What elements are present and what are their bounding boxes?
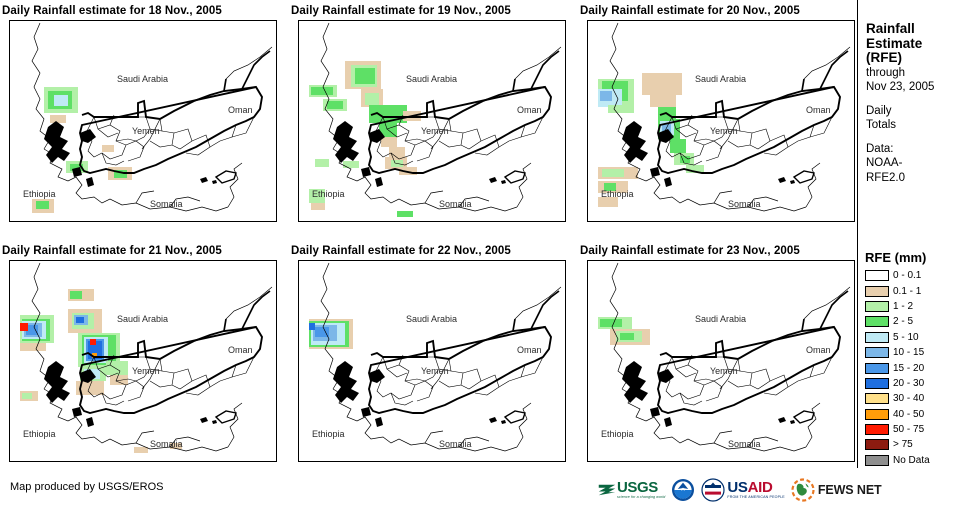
- legend-label-12: No Data: [893, 455, 930, 466]
- rfe-header: Rainfall Estimate (RFE) through Nov 23, …: [866, 22, 966, 185]
- map-credit: Map produced by USGS/EROS: [10, 481, 163, 493]
- legend-item: 1 - 2: [865, 299, 967, 314]
- legend-label-0: 0 - 0.1: [893, 270, 921, 281]
- label-somalia: Somalia: [439, 439, 472, 449]
- legend-swatch-12: [865, 455, 889, 466]
- rfe-data-source2: RFE2.0: [866, 171, 966, 186]
- legend-item: No Data: [865, 453, 967, 468]
- legend-label-3: 2 - 5: [893, 316, 913, 327]
- legend-swatch-1: [865, 286, 889, 297]
- panel-title: Daily Rainfall estimate for 20 Nov., 200…: [578, 3, 856, 20]
- map-frame: Saudi Arabia Oman Yemen Ethiopia Somalia: [9, 20, 277, 222]
- legend-item: 2 - 5: [865, 314, 967, 329]
- rainfall-cells: [598, 73, 704, 207]
- legend-swatch-11: [865, 439, 889, 450]
- label-ethiopia: Ethiopia: [601, 189, 634, 199]
- rfe-data-label: Data:: [866, 142, 966, 157]
- panel-title: Daily Rainfall estimate for 18 Nov., 200…: [0, 3, 278, 20]
- usaid-logo-tagline: FROM THE AMERICAN PEOPLE: [727, 496, 784, 500]
- label-yemen: Yemen: [421, 126, 449, 136]
- legend-label-10: 50 - 75: [893, 424, 924, 435]
- label-yemen: Yemen: [132, 126, 160, 136]
- rainfall-cells: [598, 317, 650, 345]
- usaid-seal-icon: [701, 478, 725, 502]
- label-oman: Oman: [806, 105, 831, 115]
- legend-label-4: 5 - 10: [893, 332, 919, 343]
- legend-swatch-4: [865, 332, 889, 343]
- label-ethiopia: Ethiopia: [601, 429, 634, 439]
- rfe-through-date: Nov 23, 2005: [866, 80, 966, 95]
- map-frame: Saudi Arabia Oman Yemen Ethiopia Somalia: [9, 260, 277, 462]
- rainfall-cells: [309, 319, 353, 349]
- label-ethiopia: Ethiopia: [23, 189, 56, 199]
- legend-item: 10 - 15: [865, 345, 967, 360]
- legend-label-6: 15 - 20: [893, 363, 924, 374]
- legend-swatch-8: [865, 393, 889, 404]
- legend-swatch-5: [865, 347, 889, 358]
- panel-title: Daily Rainfall estimate for 22 Nov., 200…: [289, 243, 567, 260]
- legend-label-11: > 75: [893, 439, 913, 450]
- rfe-totals-line2: Totals: [866, 118, 966, 133]
- label-somalia: Somalia: [150, 199, 183, 209]
- legend-label-1: 0.1 - 1: [893, 286, 921, 297]
- label-ethiopia: Ethiopia: [312, 189, 345, 199]
- fewsnet-logo: FEWS NET: [791, 475, 882, 505]
- label-saudi-arabia: Saudi Arabia: [117, 74, 168, 84]
- legend-label-2: 1 - 2: [893, 301, 913, 312]
- legend-swatch-0: [865, 270, 889, 281]
- usaid-logo: USAID FROM THE AMERICAN PEOPLE: [701, 475, 784, 505]
- label-oman: Oman: [517, 345, 542, 355]
- legend-item: 0 - 0.1: [865, 268, 967, 283]
- label-ethiopia: Ethiopia: [23, 429, 56, 439]
- label-saudi-arabia: Saudi Arabia: [406, 314, 457, 324]
- legend-item: 40 - 50: [865, 407, 967, 422]
- panel-title: Daily Rainfall estimate for 21 Nov., 200…: [0, 243, 278, 260]
- panel-18-nov: Daily Rainfall estimate for 18 Nov., 200…: [0, 3, 278, 222]
- label-yemen: Yemen: [132, 366, 160, 376]
- noaa-seal-icon: [671, 478, 695, 502]
- panel-23-nov: Daily Rainfall estimate for 23 Nov., 200…: [578, 243, 856, 462]
- label-yemen: Yemen: [710, 126, 738, 136]
- legend-item: 50 - 75: [865, 422, 967, 437]
- rfe-legend: RFE (mm) 0 - 0.1 0.1 - 1 1 - 2 2 - 5 5 -…: [865, 250, 967, 468]
- panel-title: Daily Rainfall estimate for 23 Nov., 200…: [578, 243, 856, 260]
- legend-item: 20 - 30: [865, 376, 967, 391]
- legend-item: 5 - 10: [865, 330, 967, 345]
- fewsnet-globe-icon: [791, 478, 815, 502]
- legend-swatch-10: [865, 424, 889, 435]
- legend-column: Rainfall Estimate (RFE) through Nov 23, …: [857, 0, 967, 470]
- legend-swatch-6: [865, 363, 889, 374]
- usgs-wave-icon: [598, 482, 616, 498]
- rfe-title-line2: Estimate: [866, 37, 966, 52]
- label-somalia: Somalia: [150, 439, 183, 449]
- legend-label-5: 10 - 15: [893, 347, 924, 358]
- label-somalia: Somalia: [728, 199, 761, 209]
- map-frame: Saudi Arabia Oman Yemen Ethiopia Somalia: [298, 260, 566, 462]
- label-yemen: Yemen: [421, 366, 449, 376]
- panel-22-nov: Daily Rainfall estimate for 22 Nov., 200…: [289, 243, 567, 462]
- label-oman: Oman: [517, 105, 542, 115]
- legend-divider: [857, 0, 858, 468]
- rfe-through: through: [866, 66, 966, 81]
- legend-item: 30 - 40: [865, 391, 967, 406]
- legend-item: 15 - 20: [865, 360, 967, 375]
- rfe-totals-line1: Daily: [866, 104, 966, 119]
- usgs-logo-name: USGS: [617, 480, 665, 495]
- label-oman: Oman: [228, 105, 253, 115]
- logo-strip: USGS science for a changing world USAID …: [598, 474, 882, 506]
- usgs-logo-tagline: science for a changing world: [617, 496, 665, 500]
- panel-21-nov: Daily Rainfall estimate for 21 Nov., 200…: [0, 243, 278, 462]
- legend-label-7: 20 - 30: [893, 378, 924, 389]
- legend-item: 0.1 - 1: [865, 283, 967, 298]
- label-somalia: Somalia: [439, 199, 472, 209]
- label-oman: Oman: [806, 345, 831, 355]
- usgs-logo: USGS science for a changing world: [598, 475, 665, 505]
- panel-19-nov: Daily Rainfall estimate for 19 Nov., 200…: [289, 3, 567, 222]
- legend-swatch-9: [865, 409, 889, 420]
- label-saudi-arabia: Saudi Arabia: [695, 74, 746, 84]
- legend-item: > 75: [865, 437, 967, 452]
- panel-20-nov: Daily Rainfall estimate for 20 Nov., 200…: [578, 3, 856, 222]
- rfe-title-line3: (RFE): [866, 51, 966, 66]
- label-ethiopia: Ethiopia: [312, 429, 345, 439]
- legend-swatch-7: [865, 378, 889, 389]
- panel-title: Daily Rainfall estimate for 19 Nov., 200…: [289, 3, 567, 20]
- legend-label-9: 40 - 50: [893, 409, 924, 420]
- noaa-logo: [671, 475, 695, 505]
- map-frame: Saudi Arabia Oman Yemen Ethiopia Somalia: [298, 20, 566, 222]
- usaid-logo-name: USAID: [727, 480, 784, 495]
- legend-swatch-3: [865, 316, 889, 327]
- label-somalia: Somalia: [728, 439, 761, 449]
- label-saudi-arabia: Saudi Arabia: [695, 314, 746, 324]
- rfe-title-line1: Rainfall: [866, 22, 966, 37]
- map-frame: Saudi Arabia Oman Yemen Ethiopia Somalia: [587, 20, 855, 222]
- rfe-data-source1: NOAA-: [866, 156, 966, 171]
- legend-label-8: 30 - 40: [893, 393, 924, 404]
- fewsnet-logo-name: FEWS NET: [818, 483, 882, 497]
- label-oman: Oman: [228, 345, 253, 355]
- legend-title: RFE (mm): [865, 250, 967, 265]
- label-yemen: Yemen: [710, 366, 738, 376]
- map-frame: Saudi Arabia Oman Yemen Ethiopia Somalia: [587, 260, 855, 462]
- label-saudi-arabia: Saudi Arabia: [117, 314, 168, 324]
- label-saudi-arabia: Saudi Arabia: [406, 74, 457, 84]
- legend-swatch-2: [865, 301, 889, 312]
